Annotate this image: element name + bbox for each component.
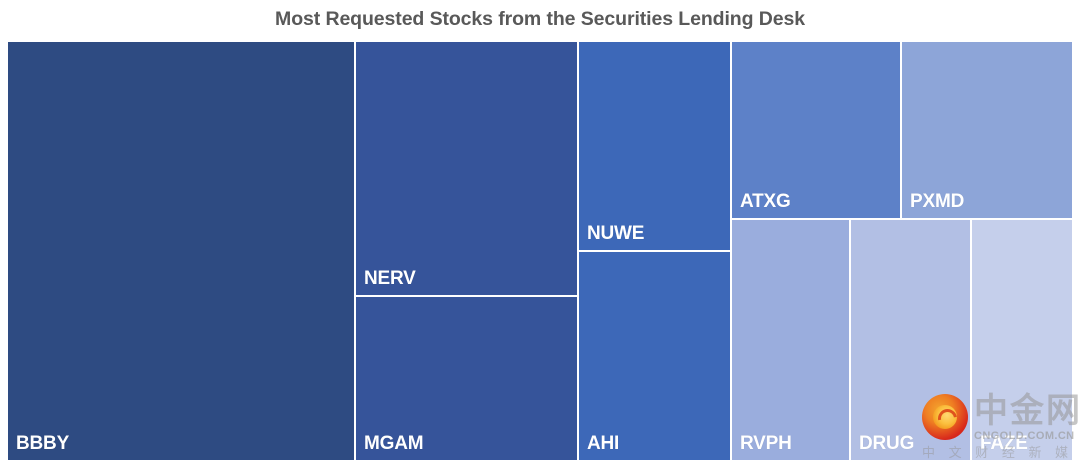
treemap-tile-label: NERV: [364, 268, 416, 290]
treemap-tile-label: ATXG: [740, 191, 791, 213]
treemap-tile-atxg[interactable]: ATXG: [732, 42, 900, 218]
treemap-tile-label: AHI: [587, 433, 619, 455]
treemap-tile-label: DRUG: [859, 433, 914, 455]
treemap-tile-mgam[interactable]: MGAM: [356, 297, 577, 460]
treemap-tile-rvph[interactable]: RVPH: [732, 220, 849, 460]
treemap-tile-ahi[interactable]: AHI: [579, 252, 730, 460]
treemap-tile-pxmd[interactable]: PXMD: [902, 42, 1072, 218]
treemap-plot-area: BBBYNERVMGAMNUWEAHIATXGPXMDRVPHDRUGFAZE: [6, 40, 1074, 462]
treemap-tile-label: FAZE: [980, 433, 1028, 455]
treemap-tile-label: PXMD: [910, 191, 964, 213]
chart-title: Most Requested Stocks from the Securitie…: [0, 8, 1080, 31]
treemap-tile-nuwe[interactable]: NUWE: [579, 42, 730, 250]
treemap-tile-label: MGAM: [364, 433, 423, 455]
treemap-chart: Most Requested Stocks from the Securitie…: [0, 0, 1080, 469]
treemap-tile-label: NUWE: [587, 223, 644, 245]
treemap-tile-drug[interactable]: DRUG: [851, 220, 970, 460]
treemap-tile-nerv[interactable]: NERV: [356, 42, 577, 295]
treemap-tile-label: RVPH: [740, 433, 792, 455]
treemap-tile-faze[interactable]: FAZE: [972, 220, 1072, 460]
treemap-tile-bbby[interactable]: BBBY: [8, 42, 354, 460]
treemap-tile-label: BBBY: [16, 433, 69, 455]
